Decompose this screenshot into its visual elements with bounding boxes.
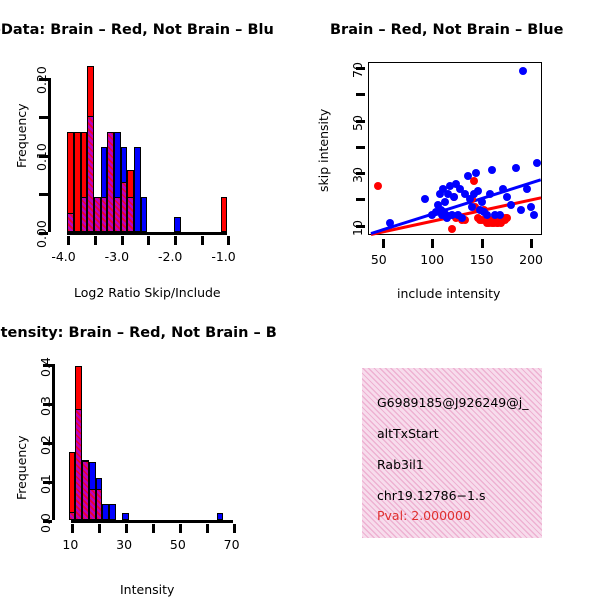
hist-intensity-bar-not-brain xyxy=(109,504,116,520)
hist-ratio-bar-brain xyxy=(74,132,81,232)
hist-intensity-bar-overlap xyxy=(82,461,89,520)
scatter-x-tick xyxy=(530,239,533,248)
hist-ratio-bar-brain xyxy=(221,197,228,232)
hist-ratio-x-ticklabel: -2.0 xyxy=(158,249,182,264)
hist-ratio-bar-not-brain xyxy=(134,147,141,232)
scatter-y-tick xyxy=(356,146,365,149)
hist-intensity-x-ticklabel: 70 xyxy=(224,537,240,552)
scatter-x-tick xyxy=(431,239,434,248)
info-line-pval: Pval: 2.000000 xyxy=(377,508,471,523)
hist-ratio-x-tick xyxy=(201,236,204,245)
panel-info: G6989185@J926249@j_ altTxStart Rab3il1 c… xyxy=(300,310,600,600)
info-line-gene: Rab3il1 xyxy=(377,457,424,472)
panel-histogram-intensity: ne Itensity: Brain – Red, Not Brain – B … xyxy=(0,310,300,600)
scatter-point-not-brain xyxy=(441,198,449,206)
info-line-coordinate: chr19.12786−1.s xyxy=(377,488,486,503)
scatter-point-not-brain xyxy=(519,67,527,75)
scatter-x-ticklabel: 100 xyxy=(420,252,444,267)
hist-intensity-x-tick xyxy=(233,524,236,533)
info-line-event-id: G6989185@J926249@j_ xyxy=(377,395,528,410)
hist-intensity-x-tick xyxy=(152,524,155,533)
scatter-point-not-brain xyxy=(450,193,458,201)
hist-intensity-y-ticklabel: 0.0 xyxy=(38,513,53,533)
scatter-point-not-brain xyxy=(472,169,480,177)
hist-ratio-bar-overlap xyxy=(94,197,101,232)
hist-intensity-y-ticklabel: 0.3 xyxy=(38,396,53,416)
hist-intensity-y-ticklabel: 0.2 xyxy=(38,435,53,455)
hist-intensity-bar-overlap xyxy=(89,489,96,520)
hist-intensity-x-tick xyxy=(206,524,209,533)
hist-ratio-y-ticklabel: 0.10 xyxy=(34,143,49,171)
hist-ratio-x-axis xyxy=(67,232,227,235)
scatter-point-not-brain xyxy=(507,201,515,209)
info-line-event-type: altTxStart xyxy=(377,426,439,441)
scatter-point-not-brain xyxy=(517,206,525,214)
hist-intensity-x-tick xyxy=(179,524,182,533)
hist-ratio-bar-not-brain xyxy=(141,197,148,232)
hist-intensity-bar-not-brain xyxy=(217,513,224,520)
hist-ratio-x-tick xyxy=(174,236,177,245)
scatter-x-ticklabel: 50 xyxy=(371,252,387,267)
hist-ratio-plot-area: -4.0-3.0-2.0-1.00.000.100.20 xyxy=(0,0,300,280)
scatter-point-brain xyxy=(448,225,456,233)
scatter-y-ticklabel: 30 xyxy=(350,167,365,183)
scatter-point-not-brain xyxy=(527,203,535,211)
hist-ratio-x-tick xyxy=(227,236,230,245)
scatter-point-not-brain xyxy=(474,187,482,195)
hist-ratio-x-tick xyxy=(121,236,124,245)
scatter-x-ticklabel: 150 xyxy=(470,252,494,267)
hist-ratio-bar-overlap xyxy=(127,197,134,232)
hist-intensity-x-ticklabel: 50 xyxy=(170,537,186,552)
hist-intensity-x-ticklabel: 30 xyxy=(116,537,132,552)
hist-ratio-x-tick xyxy=(147,236,150,245)
scatter-x-tick xyxy=(382,239,385,248)
hist-ratio-x-ticklabel: -4.0 xyxy=(51,249,75,264)
scatter-y-ticklabel: 70 xyxy=(350,62,365,78)
hist-intensity-bar-not-brain xyxy=(122,513,129,520)
scatter-point-not-brain xyxy=(386,219,394,227)
scatter-point-not-brain xyxy=(478,198,486,206)
hist-intensity-bar-overlap xyxy=(69,512,76,520)
scatter-xlabel: include intensity xyxy=(397,286,500,301)
scatter-point-not-brain xyxy=(421,195,429,203)
hist-intensity-xlabel: Intensity xyxy=(120,582,174,597)
hist-ratio-bar-overlap xyxy=(101,197,108,232)
scatter-point-not-brain xyxy=(530,211,538,219)
scatter-y-tick xyxy=(356,198,365,201)
scatter-point-not-brain xyxy=(512,164,520,172)
scatter-point-not-brain xyxy=(496,211,504,219)
hist-ratio-bar-overlap xyxy=(114,197,121,232)
hist-ratio-bar-overlap xyxy=(87,116,94,232)
panel-histogram-ratio: RatioData: Brain – Red, Not Brain – Blu … xyxy=(0,0,300,310)
scatter-point-not-brain xyxy=(468,203,476,211)
info-box: G6989185@J926249@j_ altTxStart Rab3il1 c… xyxy=(362,368,542,538)
scatter-x-ticklabel: 200 xyxy=(519,252,543,267)
hist-ratio-bar-not-brain xyxy=(174,217,181,232)
hist-intensity-x-ticklabel: 10 xyxy=(62,537,78,552)
hist-ratio-y-tick xyxy=(39,116,48,119)
hist-intensity-plot-area: 103050700.00.10.20.30.4 xyxy=(0,310,300,580)
scatter-y-ticklabel: 50 xyxy=(350,115,365,131)
scatter-point-not-brain xyxy=(464,172,472,180)
hist-intensity-x-axis xyxy=(71,520,232,523)
scatter-point-not-brain xyxy=(533,159,541,167)
hist-intensity-bar-brain xyxy=(69,452,76,520)
scatter-point-brain xyxy=(503,214,511,222)
scatter-point-not-brain xyxy=(488,166,496,174)
hist-ratio-y-ticklabel: 0.00 xyxy=(34,220,49,248)
hist-intensity-y-ticklabel: 0.1 xyxy=(38,474,53,494)
hist-ratio-bar-overlap xyxy=(81,197,88,232)
scatter-x-tick xyxy=(481,239,484,248)
hist-intensity-x-tick xyxy=(125,524,128,533)
scatter-point-not-brain xyxy=(458,214,466,222)
panel-scatter-intensity: Brain – Red, Not Brain – Blue skip inten… xyxy=(300,0,600,310)
hist-intensity-x-tick xyxy=(71,524,74,533)
scatter-point-not-brain xyxy=(503,193,511,201)
hist-ratio-y-ticklabel: 0.20 xyxy=(34,66,49,94)
hist-intensity-bar-overlap xyxy=(96,489,103,520)
hist-ratio-y-tick xyxy=(39,193,48,196)
scatter-point-brain xyxy=(374,182,382,190)
hist-intensity-y-ticklabel: 0.4 xyxy=(38,357,53,377)
scatter-plot-area: 5010015020010305070 xyxy=(300,0,600,280)
hist-ratio-xlabel: Log2 Ratio Skip/Include xyxy=(74,285,221,300)
hist-ratio-bar-overlap xyxy=(121,182,128,232)
hist-ratio-x-tick xyxy=(67,236,70,245)
hist-intensity-bar-overlap xyxy=(75,409,82,520)
hist-ratio-bar-overlap xyxy=(107,132,114,232)
hist-intensity-x-tick xyxy=(98,524,101,533)
scatter-point-not-brain xyxy=(483,211,491,219)
hist-ratio-x-ticklabel: -1.0 xyxy=(211,249,235,264)
scatter-y-ticklabel: 10 xyxy=(350,220,365,236)
scatter-y-tick xyxy=(356,93,365,96)
scatter-point-not-brain xyxy=(486,190,494,198)
scatter-plot-box xyxy=(368,62,542,235)
hist-intensity-bar-not-brain xyxy=(102,504,109,520)
hist-ratio-x-ticklabel: -3.0 xyxy=(105,249,129,264)
scatter-point-not-brain xyxy=(523,185,531,193)
hist-ratio-bar-overlap xyxy=(67,213,74,232)
hist-ratio-x-tick xyxy=(94,236,97,245)
